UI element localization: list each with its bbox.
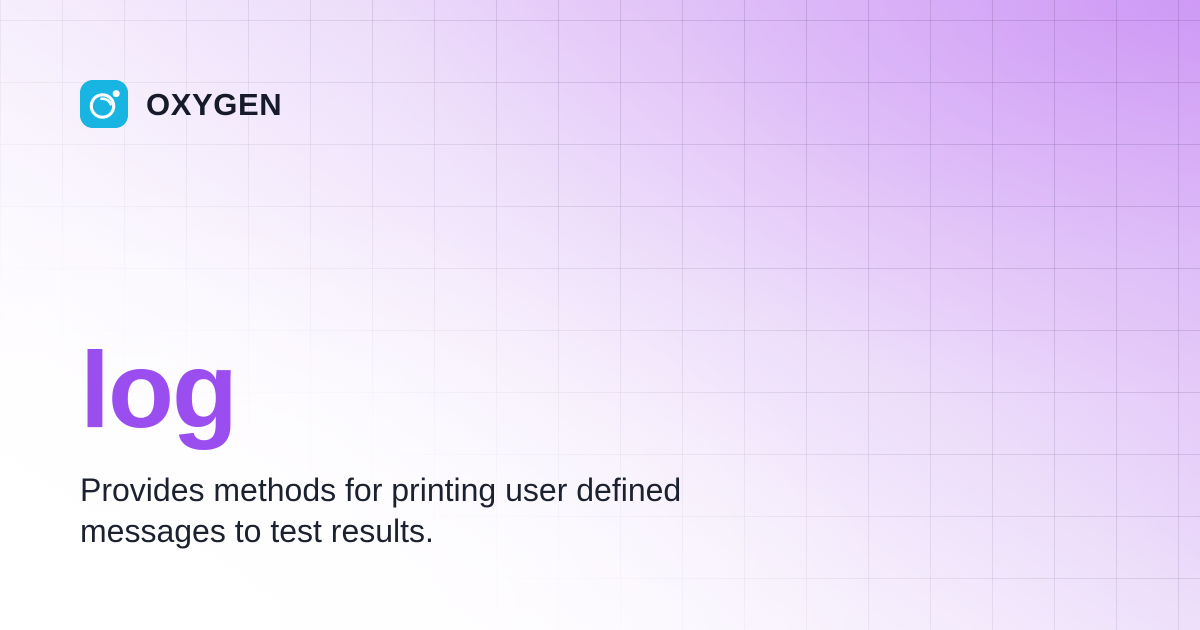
card-content: OXYGEN log Provides methods for printing… bbox=[0, 0, 1200, 630]
page-description: Provides methods for printing user defin… bbox=[80, 470, 790, 552]
brand-name: OXYGEN bbox=[146, 89, 282, 120]
page-title: log bbox=[80, 336, 900, 444]
hero-text-block: log Provides methods for printing user d… bbox=[80, 336, 900, 552]
og-card-canvas: OXYGEN log Provides methods for printing… bbox=[0, 0, 1200, 630]
oxygen-aperture-icon bbox=[80, 80, 128, 128]
brand-lockup: OXYGEN bbox=[80, 80, 282, 128]
